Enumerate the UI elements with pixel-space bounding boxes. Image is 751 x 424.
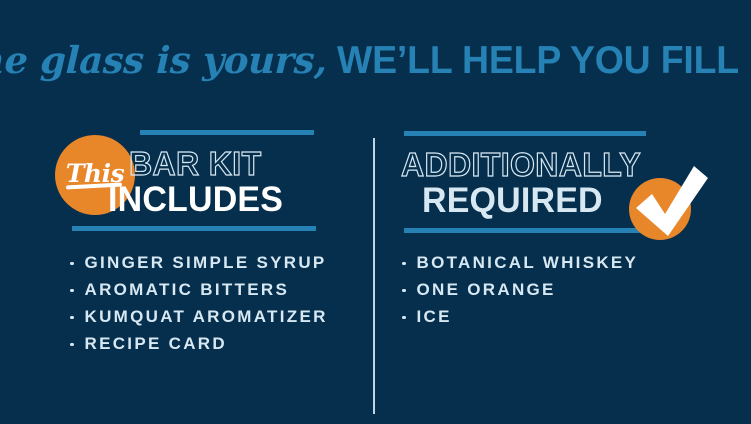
bullet-icon: [402, 316, 406, 320]
left-heading-line2: INCLUDES: [108, 180, 283, 220]
bullet-icon: [70, 316, 74, 320]
headline-script-text: The glass is yours,: [0, 38, 327, 82]
bullet-icon: [402, 289, 406, 293]
right-heading-line1: ADDITIONALLY: [401, 146, 641, 184]
bullet-icon: [70, 262, 74, 266]
list-item-label: ICE: [417, 307, 452, 327]
list-item: AROMATIC BITTERS: [70, 276, 328, 303]
list-item: GINGER SIMPLE SYRUP: [70, 249, 328, 276]
infographic-canvas: The glass is yours, WE’LL HELP YOU FILL …: [0, 0, 751, 424]
list-item: BOTANICAL WHISKEY: [402, 249, 638, 276]
list-item: KUMQUAT AROMATIZER: [70, 303, 328, 330]
headline-bold-text: WE’LL HELP YOU FILL IT: [337, 39, 751, 83]
page-title: The glass is yours, WE’LL HELP YOU FILL …: [0, 38, 751, 98]
list-item: RECIPE CARD: [70, 330, 328, 357]
list-item: ONE ORANGE: [402, 276, 638, 303]
right-rule-bottom: [404, 228, 649, 233]
right-heading-line2: REQUIRED: [422, 181, 603, 221]
list-item-label: RECIPE CARD: [85, 334, 227, 354]
list-item-label: KUMQUAT AROMATIZER: [85, 307, 328, 327]
list-item: ICE: [402, 303, 638, 330]
bullet-icon: [70, 343, 74, 347]
list-item-label: ONE ORANGE: [417, 280, 556, 300]
bullet-icon: [70, 289, 74, 293]
list-item-label: AROMATIC BITTERS: [85, 280, 290, 300]
bar-kit-includes-list: GINGER SIMPLE SYRUP AROMATIC BITTERS KUM…: [70, 249, 328, 357]
left-heading-line1: BAR KIT: [129, 145, 262, 183]
additionally-required-list: BOTANICAL WHISKEY ONE ORANGE ICE: [402, 249, 638, 330]
checkmark-icon: [632, 166, 708, 246]
right-rule-top: [404, 131, 646, 136]
column-divider: [373, 138, 375, 414]
list-item-label: GINGER SIMPLE SYRUP: [85, 253, 327, 273]
bullet-icon: [402, 262, 406, 266]
left-rule-top: [140, 130, 314, 135]
list-item-label: BOTANICAL WHISKEY: [417, 253, 639, 273]
left-rule-bottom: [72, 226, 316, 231]
